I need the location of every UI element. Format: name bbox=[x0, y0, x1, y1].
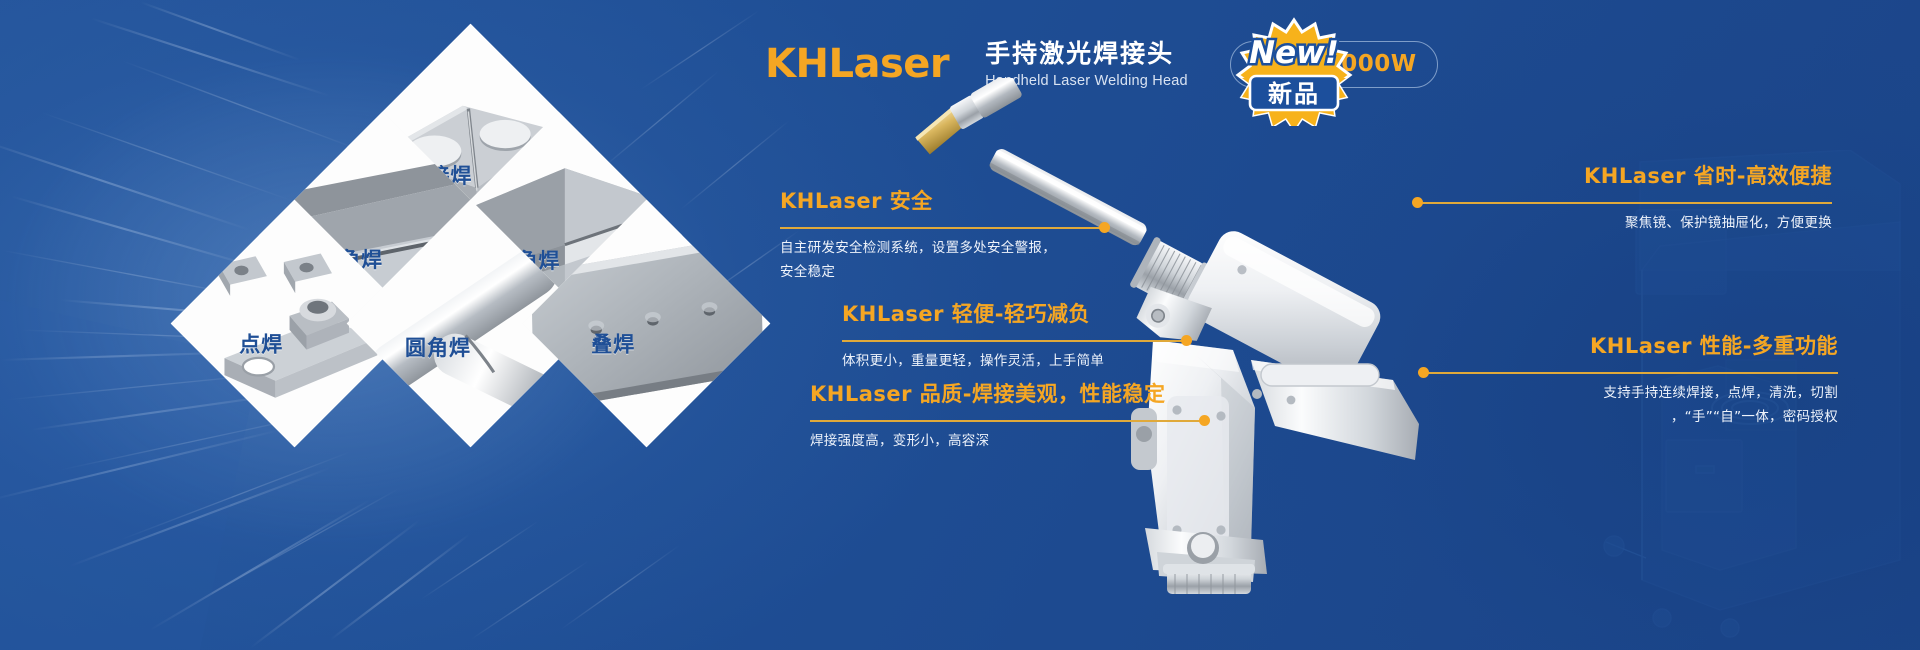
feature-time-saving-title: KHLaser 省时-高效便捷 bbox=[1412, 160, 1832, 190]
feature-time-saving-connector bbox=[1412, 197, 1832, 209]
connector-dot bbox=[1418, 367, 1429, 378]
feature-safety-desc-1: 自主研发安全检测系统，设置多处安全警报， bbox=[780, 237, 1110, 261]
product-panel: KHLaser 手持激光焊接头 Handheld Laser Welding H… bbox=[740, 0, 1920, 650]
feature-time-saving: KHLaser 省时-高效便捷 聚焦镜、保护镜抽屉化，方便更换 bbox=[1412, 160, 1832, 236]
feature-performance-title: KHLaser 性能-多重功能 bbox=[1418, 330, 1838, 360]
feature-time-saving-desc-1: 聚焦镜、保护镜抽屉化，方便更换 bbox=[1412, 212, 1832, 236]
feature-quality: KHLaser 品质-焊接美观，性能稳定 焊接强度高，变形小，高容深 bbox=[810, 378, 1210, 454]
feature-performance: KHLaser 性能-多重功能 支持手持连续焊接，点焊，清洗，切割 ，“手”“自… bbox=[1418, 330, 1838, 429]
weld-tile-spot-label: 点焊 bbox=[239, 328, 283, 358]
feature-performance-desc-1: 支持手持连续焊接，点焊，清洗，切割 bbox=[1418, 382, 1838, 406]
feature-quality-desc-1: 焊接强度高，变形小，高容深 bbox=[810, 430, 1210, 454]
product-title-cn: 手持激光焊接头 bbox=[985, 40, 1188, 69]
feature-safety-desc-2: 安全稳定 bbox=[780, 261, 1110, 285]
connector-line bbox=[1424, 372, 1838, 374]
banner-root: 对接焊 阴角焊 bbox=[0, 0, 1920, 650]
feature-performance-desc-2: ，“手”“自”一体，密码授权 bbox=[1418, 406, 1838, 430]
feature-safety-connector bbox=[780, 222, 1110, 234]
weld-tile-lap-label: 叠焊 bbox=[591, 328, 635, 358]
connector-dot bbox=[1181, 335, 1192, 346]
weld-type-gallery: 对接焊 阴角焊 bbox=[150, 18, 790, 598]
connector-line bbox=[810, 420, 1204, 422]
feature-lightweight-connector bbox=[842, 335, 1192, 347]
feature-lightweight-desc-1: 体积更小，重量更轻，操作灵活，上手简单 bbox=[842, 350, 1192, 374]
connector-line bbox=[780, 227, 1104, 229]
feature-quality-connector bbox=[810, 415, 1210, 427]
feature-lightweight-title: KHLaser 轻便-轻巧减负 bbox=[842, 298, 1192, 328]
new-badge-text-en: New! bbox=[1249, 35, 1339, 71]
feature-safety-title: KHLaser 安全 bbox=[780, 185, 1110, 215]
connector-line bbox=[842, 340, 1186, 342]
weld-tile-fillet-label: 圆角焊 bbox=[405, 332, 471, 362]
connector-dot bbox=[1099, 222, 1110, 233]
feature-performance-connector bbox=[1418, 367, 1838, 379]
connector-line bbox=[1418, 202, 1832, 204]
connector-dot bbox=[1199, 415, 1210, 426]
feature-quality-title: KHLaser 品质-焊接美观，性能稳定 bbox=[810, 378, 1210, 408]
feature-lightweight: KHLaser 轻便-轻巧减负 体积更小，重量更轻，操作灵活，上手简单 bbox=[842, 298, 1192, 374]
feature-safety: KHLaser 安全 自主研发安全检测系统，设置多处安全警报， 安全稳定 bbox=[780, 185, 1110, 284]
connector-dot bbox=[1412, 197, 1423, 208]
